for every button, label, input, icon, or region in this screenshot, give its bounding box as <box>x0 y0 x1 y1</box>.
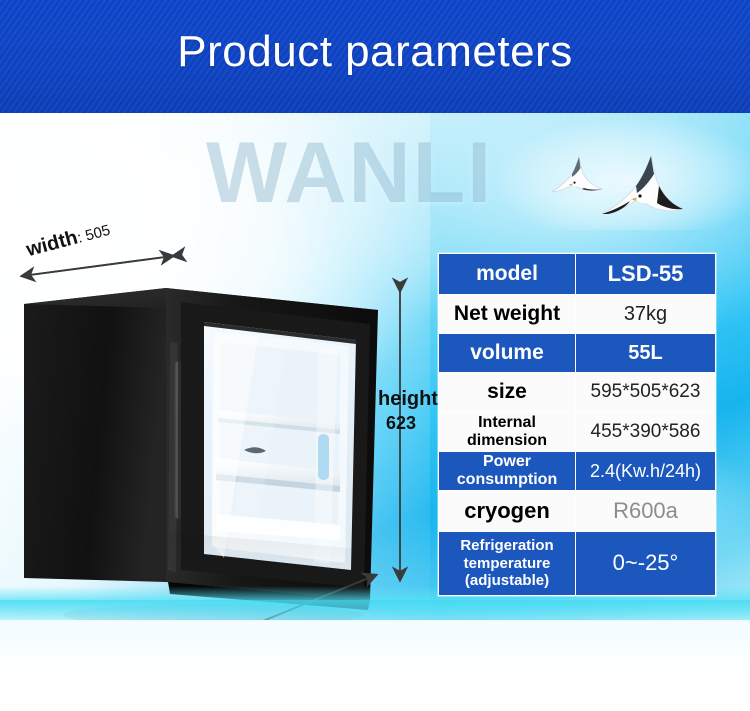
spec-value-model: LSD-55 <box>576 254 716 295</box>
spec-key-internal-dimension: Internal dimension <box>439 412 576 452</box>
dimension-height-text: height <box>378 388 438 410</box>
spec-key-size: size <box>439 373 576 412</box>
reftemp-line-2: temperature <box>441 555 573 573</box>
spec-key-cryogen: cryogen <box>439 491 576 532</box>
water-highlight <box>0 600 750 622</box>
spec-value-size: 595*505*623 <box>576 373 716 412</box>
table-row: size 595*505*623 <box>439 373 716 412</box>
brand-watermark: WANLI <box>206 124 493 223</box>
product-parameters-page: Product parameters WANLI <box>0 0 750 711</box>
reftemp-line-1: Refrigeration <box>441 537 573 555</box>
spec-value-volume: 55L <box>576 334 716 373</box>
seagull-large-icon <box>596 146 688 228</box>
table-row: volume 55L <box>439 334 716 373</box>
table-row: Power consumption 2.4(Kw.h/24h) <box>439 452 716 491</box>
reftemp-line-3: (adjustable) <box>441 572 573 590</box>
specification-table: model LSD-55 Net weight 37kg volume 55L … <box>438 253 716 596</box>
spec-key-refrigeration-temperature: Refrigeration temperature (adjustable) <box>439 532 576 596</box>
table-row: Refrigeration temperature (adjustable) 0… <box>439 532 716 596</box>
table-row: model LSD-55 <box>439 254 716 295</box>
table-row: cryogen R600a <box>439 491 716 532</box>
spec-value-refrigeration-temperature: 0~-25° <box>576 532 716 596</box>
spec-value-power-consumption: 2.4(Kw.h/24h) <box>576 452 716 491</box>
spec-value-net-weight: 37kg <box>576 295 716 334</box>
dimension-label-height: height 623 <box>378 386 438 436</box>
table-row: Internal dimension 455*390*586 <box>439 412 716 452</box>
dimension-height-value: 623 <box>378 412 438 436</box>
spec-value-cryogen: R600a <box>576 491 716 532</box>
table-row: Net weight 37kg <box>439 295 716 334</box>
spec-value-internal-dimension: 455*390*586 <box>576 412 716 452</box>
spec-key-net-weight: Net weight <box>439 295 576 334</box>
spec-key-power-consumption: Power consumption <box>439 452 576 491</box>
spec-key-volume: volume <box>439 334 576 373</box>
display-freezer-image <box>18 282 398 632</box>
header-banner: Product parameters <box>0 0 750 113</box>
dimension-width-value: 505 <box>84 222 113 245</box>
floor-area <box>0 620 750 711</box>
spec-key-model: model <box>439 254 576 295</box>
page-title: Product parameters <box>0 27 750 77</box>
